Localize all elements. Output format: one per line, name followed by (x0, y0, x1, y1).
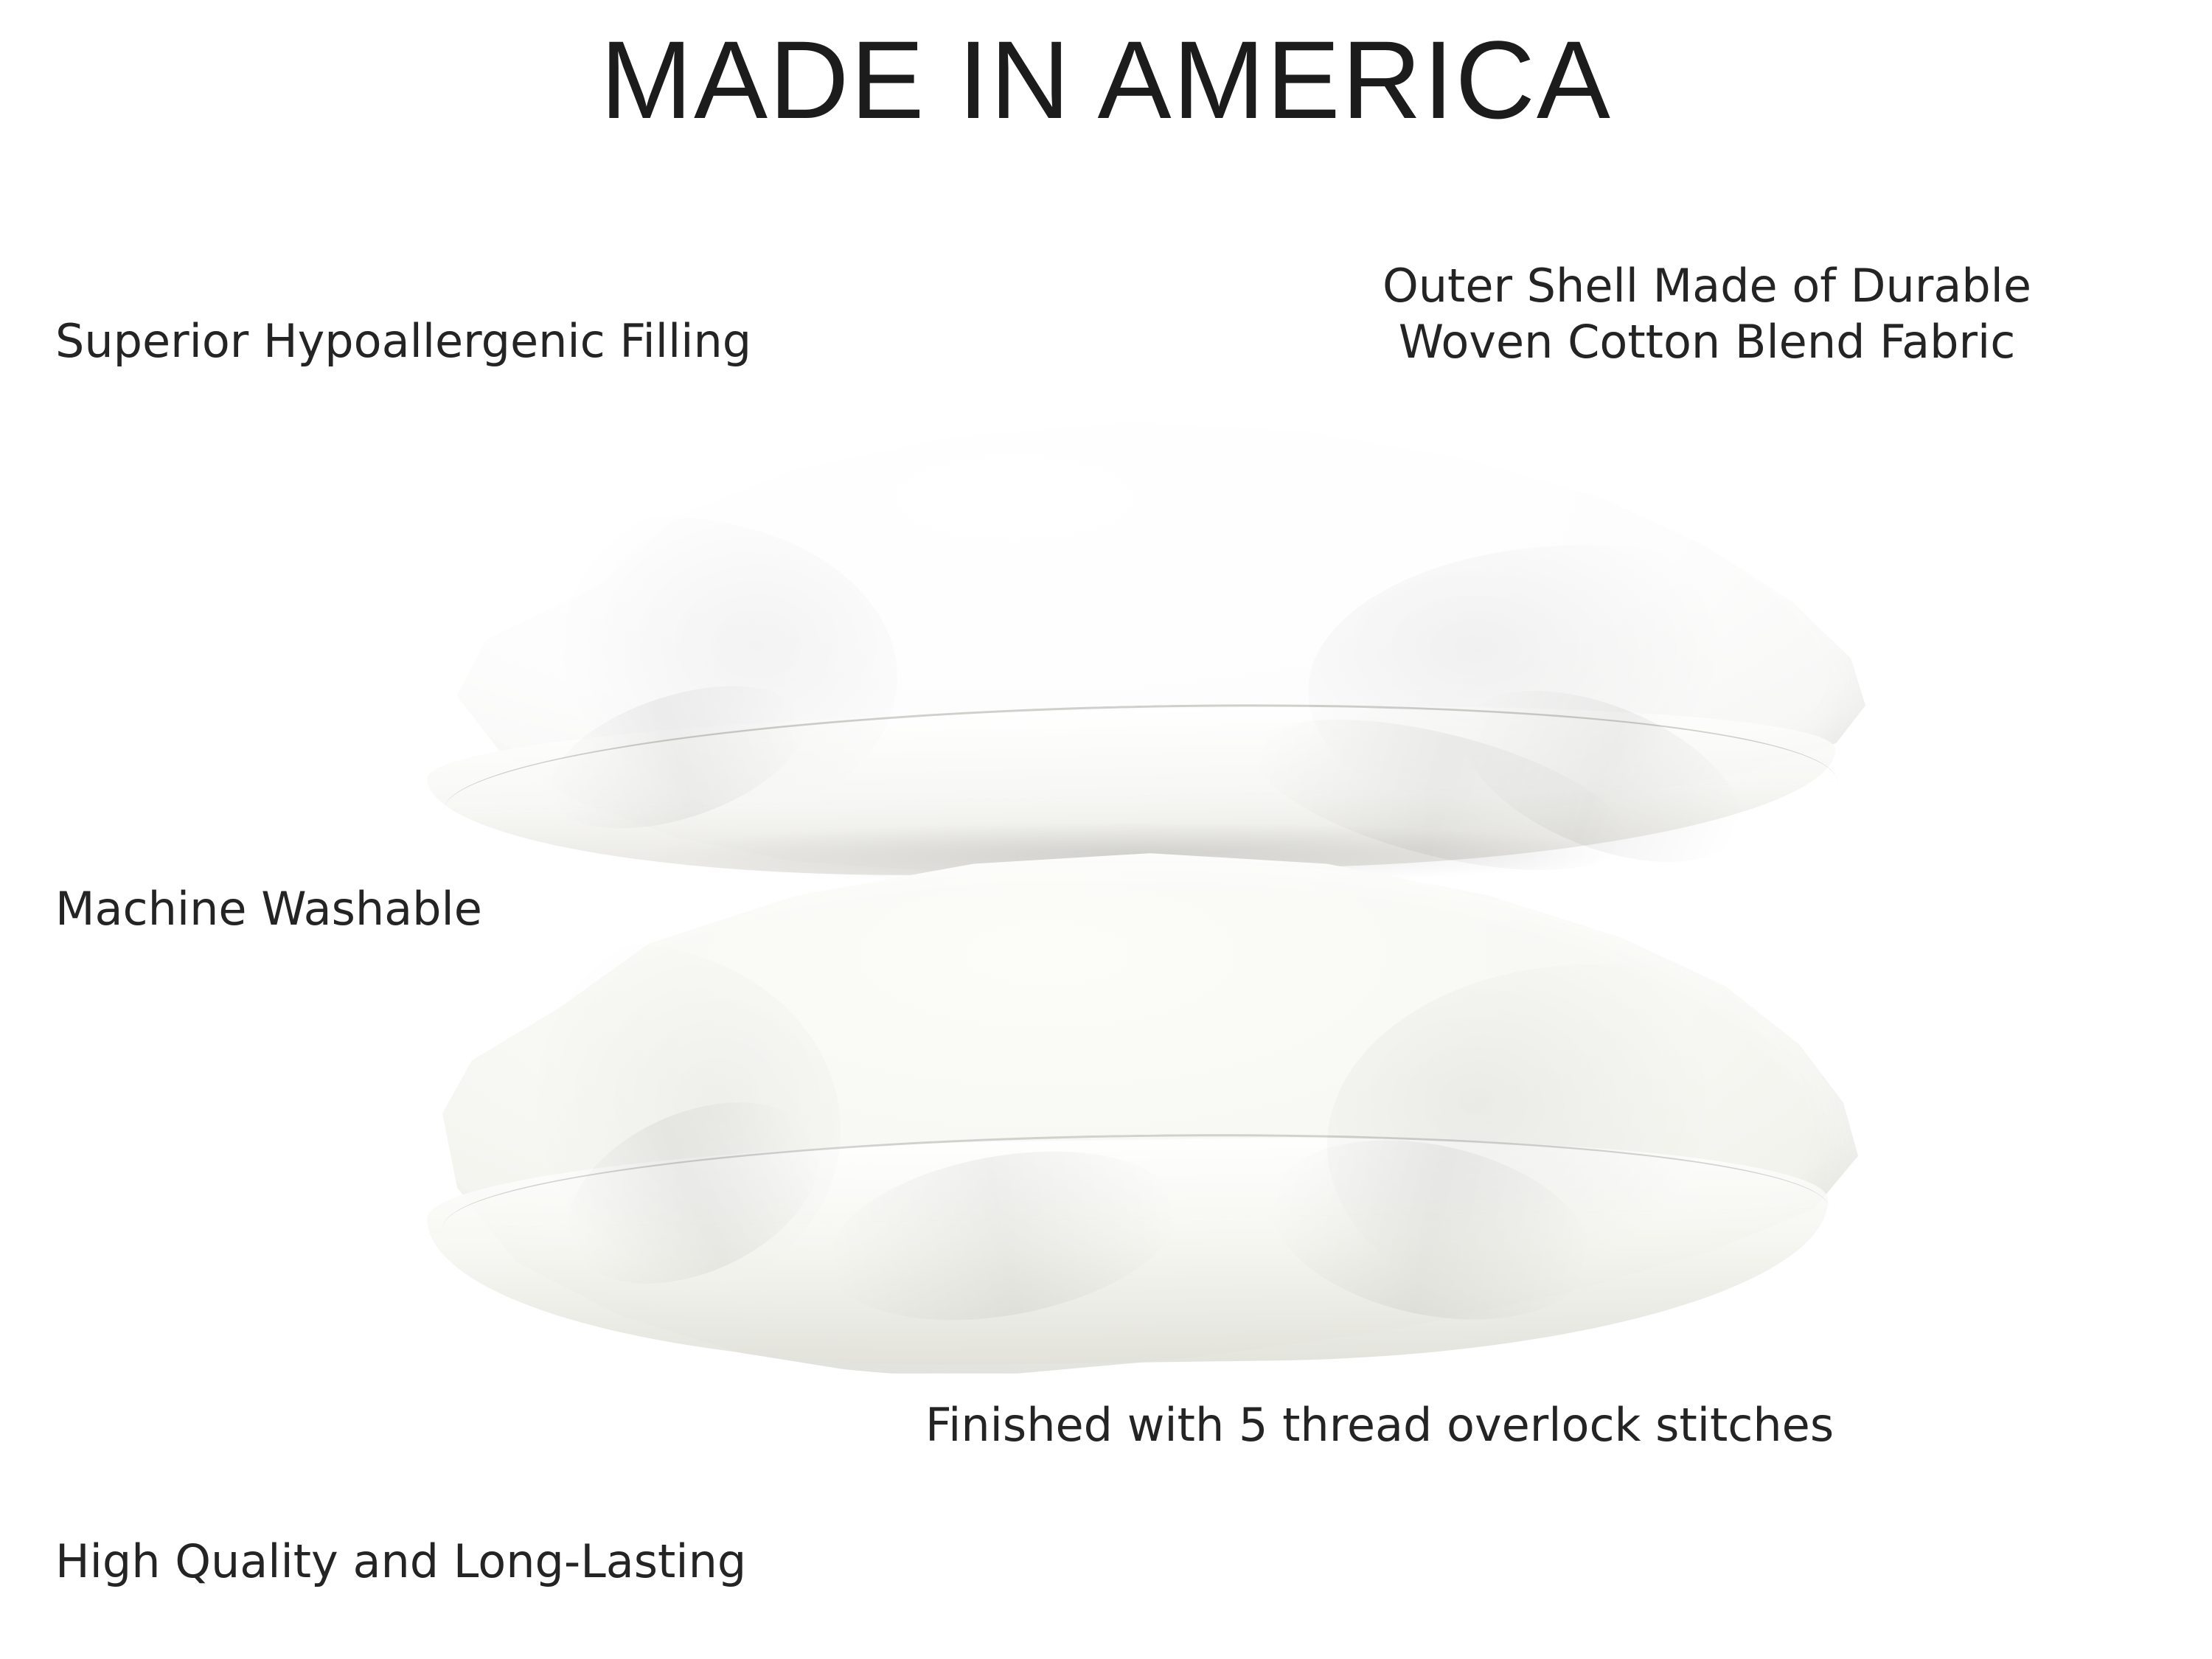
callout-machine-washable: Machine Washable (55, 881, 482, 937)
page-title: MADE IN AMERICA (0, 22, 2212, 139)
callout-high-quality: High Quality and Long-Lasting (55, 1534, 746, 1590)
callout-hypoallergenic-filling: Superior Hypoallergenic Filling (55, 313, 751, 369)
callout-outer-shell: Outer Shell Made of Durable Woven Cotton… (1246, 258, 2168, 369)
top-pillow (398, 413, 1865, 885)
product-feature-image: MADE IN AMERICA Superior Hypoallergenic … (0, 0, 2212, 1659)
callout-overlock-stitches: Finished with 5 thread overlock stitches (925, 1397, 1834, 1453)
bottom-pillow (383, 848, 1858, 1379)
pillow-stack-photo (383, 413, 1880, 1379)
